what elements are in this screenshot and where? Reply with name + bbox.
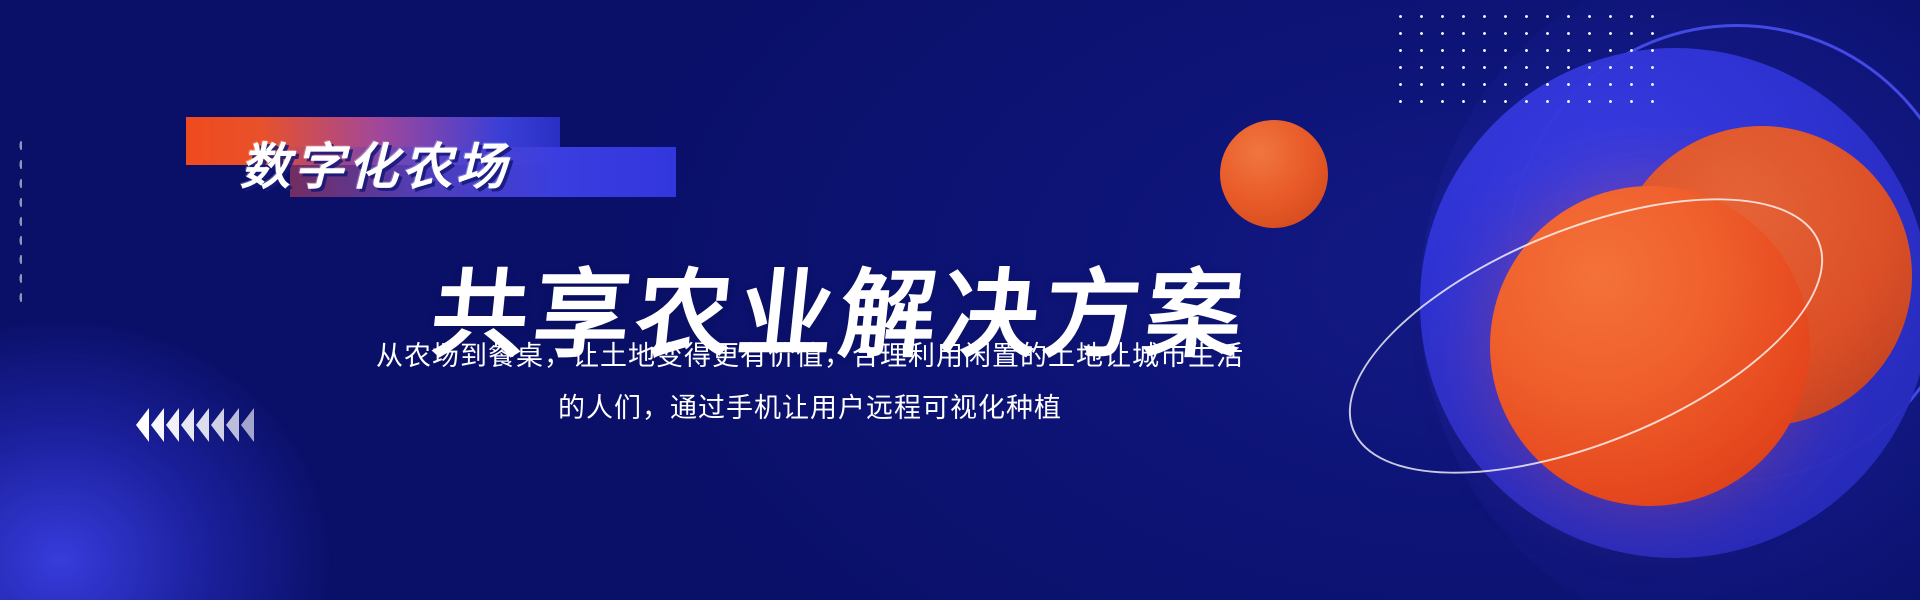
banner-content: 数字化农场 共享农业解决方案 从农场到餐桌，让土地变得更有价值，合理利用闲置的土… [0,0,1920,600]
badge-label: 数字化农场 [240,137,510,197]
subtitle-line-1: 从农场到餐桌，让土地变得更有价值，合理利用闲置的土地让城市生活 [360,330,1260,382]
subtitle-block: 从农场到餐桌，让土地变得更有价值，合理利用闲置的土地让城市生活 的人们，通过手机… [360,330,1260,434]
hero-banner: 数字化农场 共享农业解决方案 从农场到餐桌，让土地变得更有价值，合理利用闲置的土… [0,0,1920,600]
category-badge: 数字化农场 [186,117,606,197]
subtitle-line-2: 的人们，通过手机让用户远程可视化种植 [360,382,1260,434]
